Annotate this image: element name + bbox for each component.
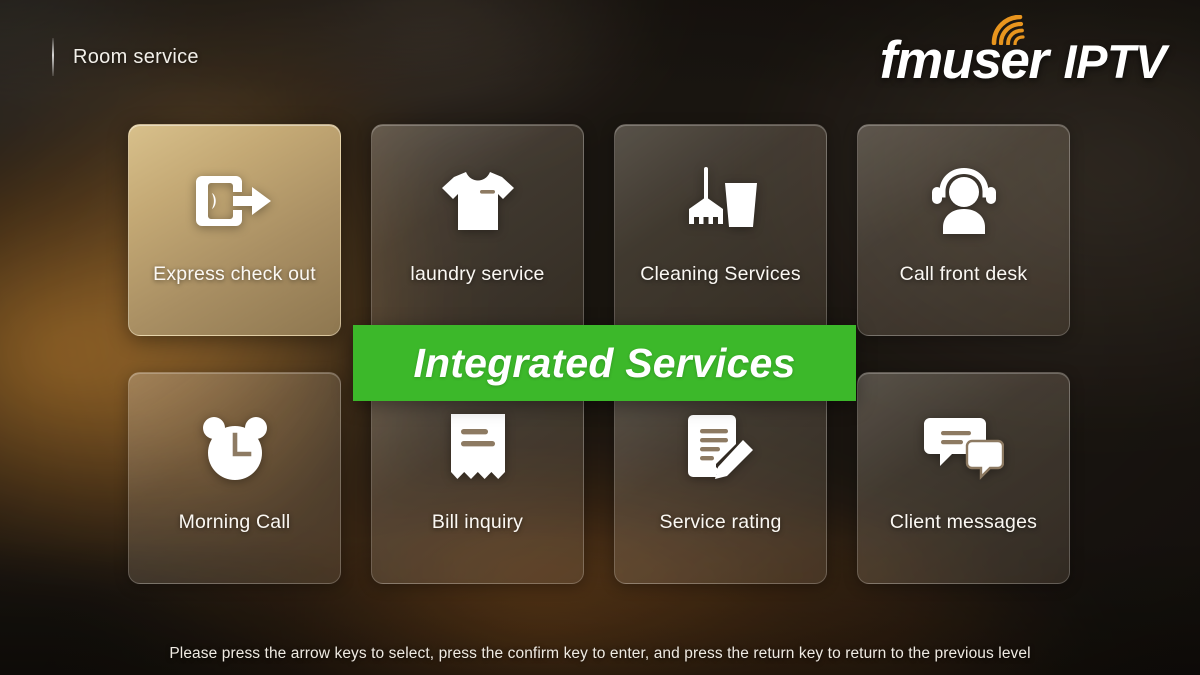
tile-morning-call[interactable]: Morning Call [128,372,341,584]
exit-door-arrow-icon [129,125,340,265]
tile-laundry-service[interactable]: laundry service [371,124,584,336]
t-shirt-icon [372,125,583,265]
broom-bucket-icon [615,125,826,265]
tile-label: Express check out [153,265,316,285]
alarm-clock-icon [129,373,340,513]
tile-label: Bill inquiry [432,513,523,533]
tile-client-messages[interactable]: Client messages [857,372,1070,584]
navigation-hint: Please press the arrow keys to select, p… [169,645,1030,662]
signal-wave-icon [990,15,1034,45]
integrated-services-banner: Integrated Services [353,325,856,401]
brand-name: fmuser [880,34,1048,87]
tile-label: Client messages [890,513,1037,533]
tile-label: Service rating [659,513,781,533]
tile-service-rating[interactable]: Service rating [614,372,827,584]
tile-bill-inquiry[interactable]: Bill inquiry [371,372,584,584]
tile-label: laundry service [410,265,544,285]
tile-label: Call front desk [900,265,1028,285]
tile-call-front-desk[interactable]: Call front desk [857,124,1070,336]
header-bar: Room service fmuser IPTV [0,0,1200,100]
footer-hint-bar: Please press the arrow keys to select, p… [0,645,1200,663]
brand-logo: fmuser IPTV [880,34,1166,87]
iptv-screen: Room service fmuser IPTV Ex [0,0,1200,675]
headset-agent-icon [858,125,1069,265]
tile-label: Cleaning Services [640,265,801,285]
banner-label: Integrated Services [413,340,795,387]
breadcrumb: Room service [52,38,199,76]
brand-product: IPTV [1064,38,1166,85]
speech-bubbles-icon [858,373,1069,513]
tile-express-check-out[interactable]: Express check out [128,124,341,336]
tile-cleaning-services[interactable]: Cleaning Services [614,124,827,336]
page-title: Room service [73,46,199,69]
tile-label: Morning Call [179,513,291,533]
breadcrumb-accent-bar [52,38,54,76]
